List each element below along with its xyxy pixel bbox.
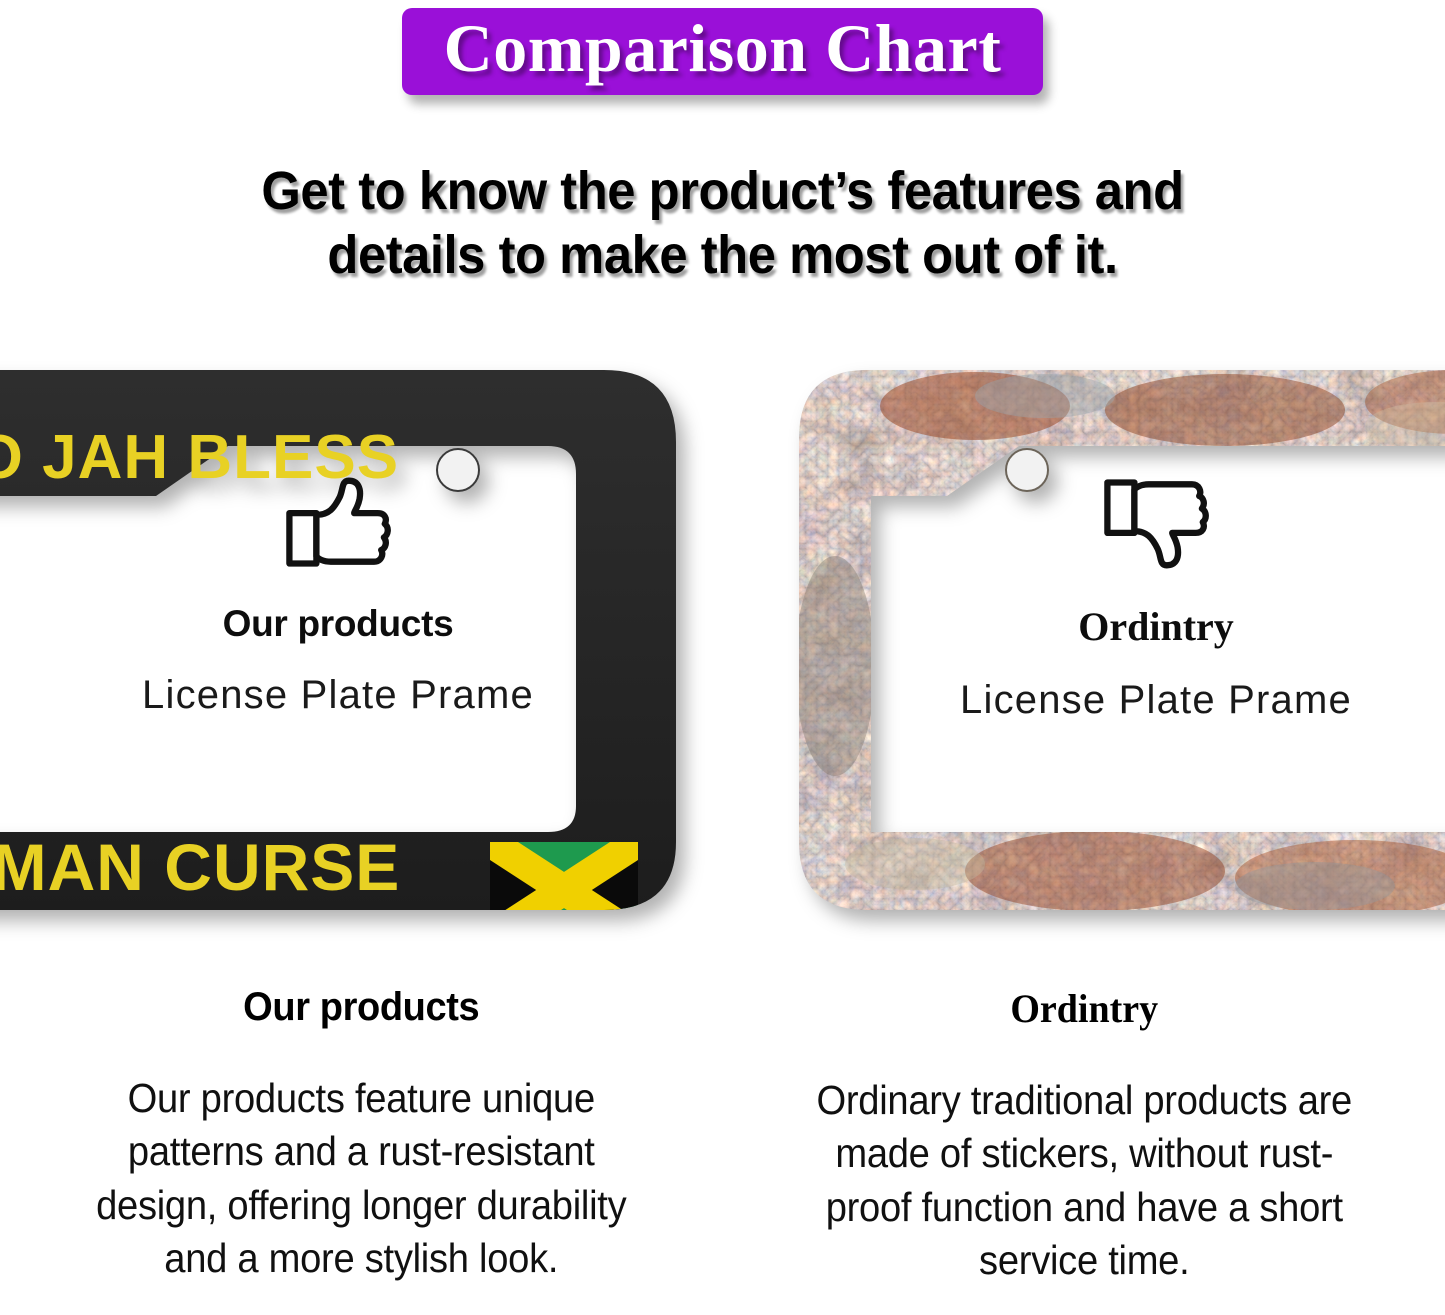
rusty-frame-graphic — [795, 366, 1445, 914]
ordinary-column-body: Ordinary traditional products are made o… — [796, 1074, 1371, 1287]
subtitle-line-2: details to make the most out of it. — [43, 224, 1401, 288]
banner-container: Comparison Chart — [0, 8, 1445, 95]
our-product-description-column: Our products Our products feature unique… — [0, 985, 723, 1315]
description-columns: Our products Our products feature unique… — [0, 985, 1445, 1315]
plate-bottom-text: MAN CURSE — [0, 830, 400, 904]
ordinary-license-plate-frame — [795, 366, 1445, 914]
plate-top-text: HO JAH BLESS — [0, 423, 399, 492]
page-title: Comparison Chart — [444, 14, 1002, 83]
subtitle: Get to know the product’s features and d… — [43, 160, 1401, 287]
title-banner: Comparison Chart — [402, 8, 1044, 95]
black-frame-graphic: HO JAH BLESS MAN CURSE — [0, 366, 676, 914]
subtitle-line-1: Get to know the product’s features and — [43, 160, 1401, 224]
our-product-column-body: Our products feature unique patterns and… — [74, 1072, 649, 1285]
rust-texture — [795, 366, 1445, 914]
ordinary-column-heading: Ordintry — [790, 985, 1378, 1032]
plates-comparison-row: HO JAH BLESS MAN CURSE Our product — [0, 358, 1445, 928]
ordinary-description-column: Ordintry Ordinary traditional products a… — [723, 985, 1445, 1315]
our-product-column-heading: Our products — [67, 985, 655, 1030]
jamaica-flag-icon — [490, 842, 638, 914]
our-product-license-plate-frame: HO JAH BLESS MAN CURSE — [0, 366, 676, 914]
